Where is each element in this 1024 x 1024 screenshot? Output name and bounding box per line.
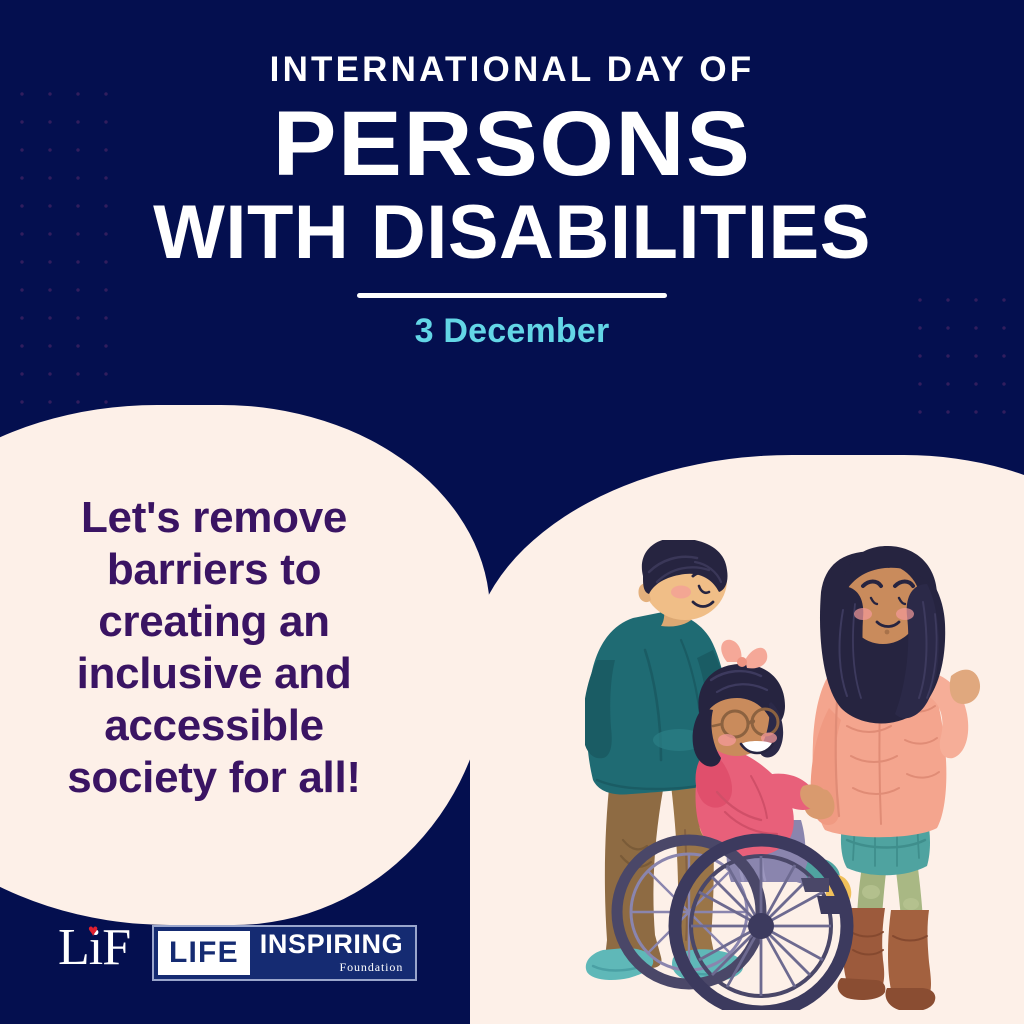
logo-lockup: LiF ♥ LIFE INSPIRING Foundation [58, 920, 417, 986]
divider-rule [357, 293, 667, 298]
life-inspiring-foundation-badge: LIFE INSPIRING Foundation [152, 925, 417, 981]
badge-life-text: LIFE [158, 931, 250, 975]
badge-foundation-text: Foundation [260, 960, 403, 975]
badge-right-group: INSPIRING Foundation [250, 927, 415, 979]
date-text: 3 December [0, 312, 1024, 351]
poster-canvas: INTERNATIONAL DAY OF PERSONS WITH DISABI… [0, 0, 1024, 1024]
heart-icon: ♥ [88, 922, 101, 934]
kicker-text: INTERNATIONAL DAY OF [0, 52, 1024, 89]
header-block: INTERNATIONAL DAY OF PERSONS WITH DISABI… [0, 52, 1024, 351]
people-illustration [585, 540, 1015, 1010]
title-line-2: WITH DISABILITIES [0, 195, 1024, 271]
lif-monogram-logo: LiF ♥ [58, 920, 136, 986]
badge-inspiring-text: INSPIRING [260, 931, 403, 958]
quote-text: Let's remove barriers to creating an inc… [34, 492, 394, 803]
title-line-1: PERSONS [0, 99, 1024, 189]
